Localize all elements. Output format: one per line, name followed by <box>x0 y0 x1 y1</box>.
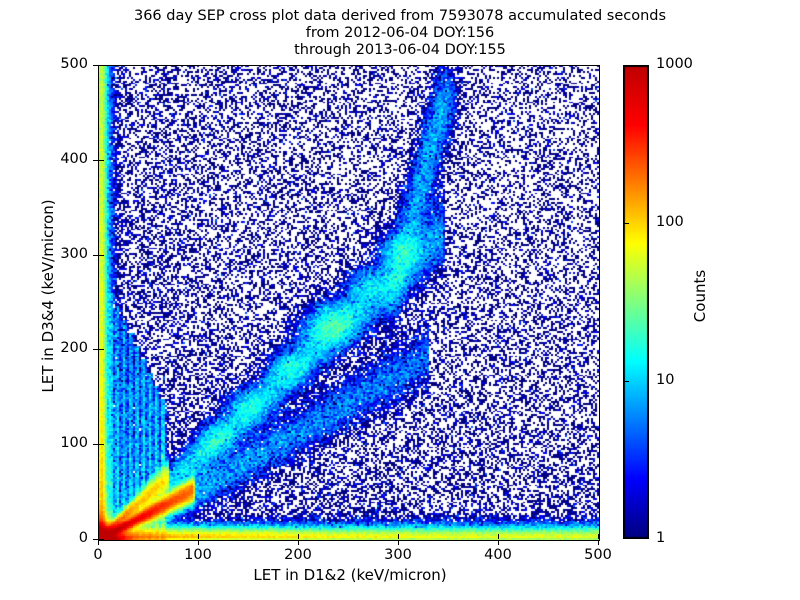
x-tick-0 <box>98 540 99 545</box>
x-tick-300 <box>398 540 399 545</box>
x-tick-label-0: 0 <box>68 547 128 563</box>
y-tick-inner-100 <box>99 444 104 445</box>
y-tick-inner-300 <box>99 255 104 256</box>
y-tick-label-200: 200 <box>28 340 88 356</box>
y-tick-inner-400 <box>99 160 104 161</box>
colorbar-tick-label-1: 1 <box>656 530 665 546</box>
y-tick-inner-500 <box>99 65 104 66</box>
chart-title-block: 366 day SEP cross plot data derived from… <box>0 8 800 59</box>
y-axis-title: LET in D3&4 (keV/micron) <box>39 156 57 436</box>
y-tick-label-400: 400 <box>28 151 88 167</box>
colorbar <box>623 65 649 539</box>
x-tick-label-200: 200 <box>268 547 328 563</box>
colorbar-tick-label-1000: 1000 <box>656 56 693 72</box>
y-tick-300 <box>93 255 98 256</box>
y-tick-label-500: 500 <box>28 56 88 72</box>
chart-title-line-2: from 2012-06-04 DOY:156 <box>0 25 800 42</box>
colorbar-title: Counts <box>691 216 709 376</box>
x-tick-label-300: 300 <box>368 547 428 563</box>
x-tick-100 <box>198 540 199 545</box>
x-tick-inner-500 <box>598 534 599 539</box>
x-tick-inner-200 <box>298 534 299 539</box>
y-tick-400 <box>93 160 98 161</box>
colorbar-gradient <box>623 65 649 539</box>
x-tick-inner-100 <box>198 534 199 539</box>
x-tick-inner-300 <box>398 534 399 539</box>
y-tick-label-300: 300 <box>28 246 88 262</box>
x-tick-500 <box>598 540 599 545</box>
x-tick-inner-400 <box>498 534 499 539</box>
x-tick-label-100: 100 <box>168 547 228 563</box>
density-heatmap-canvas <box>99 66 599 540</box>
y-tick-inner-0 <box>99 539 104 540</box>
chart-title-line-1: 366 day SEP cross plot data derived from… <box>0 8 800 25</box>
plot-area <box>98 65 600 541</box>
colorbar-tick-label-10: 10 <box>656 372 674 388</box>
colorbar-tick-label-100: 100 <box>656 214 684 230</box>
y-tick-label-0: 0 <box>28 530 88 546</box>
y-tick-label-100: 100 <box>28 435 88 451</box>
y-tick-200 <box>93 349 98 350</box>
x-axis-title: LET in D1&2 (keV/micron) <box>0 566 700 584</box>
y-tick-100 <box>93 444 98 445</box>
colorbar-tick-10 <box>623 381 629 382</box>
x-tick-label-500: 500 <box>568 547 628 563</box>
x-tick-400 <box>498 540 499 545</box>
y-tick-inner-200 <box>99 349 104 350</box>
y-tick-0 <box>93 539 98 540</box>
x-tick-label-400: 400 <box>468 547 528 563</box>
y-tick-500 <box>93 65 98 66</box>
x-tick-200 <box>298 540 299 545</box>
colorbar-tick-100 <box>623 223 629 224</box>
